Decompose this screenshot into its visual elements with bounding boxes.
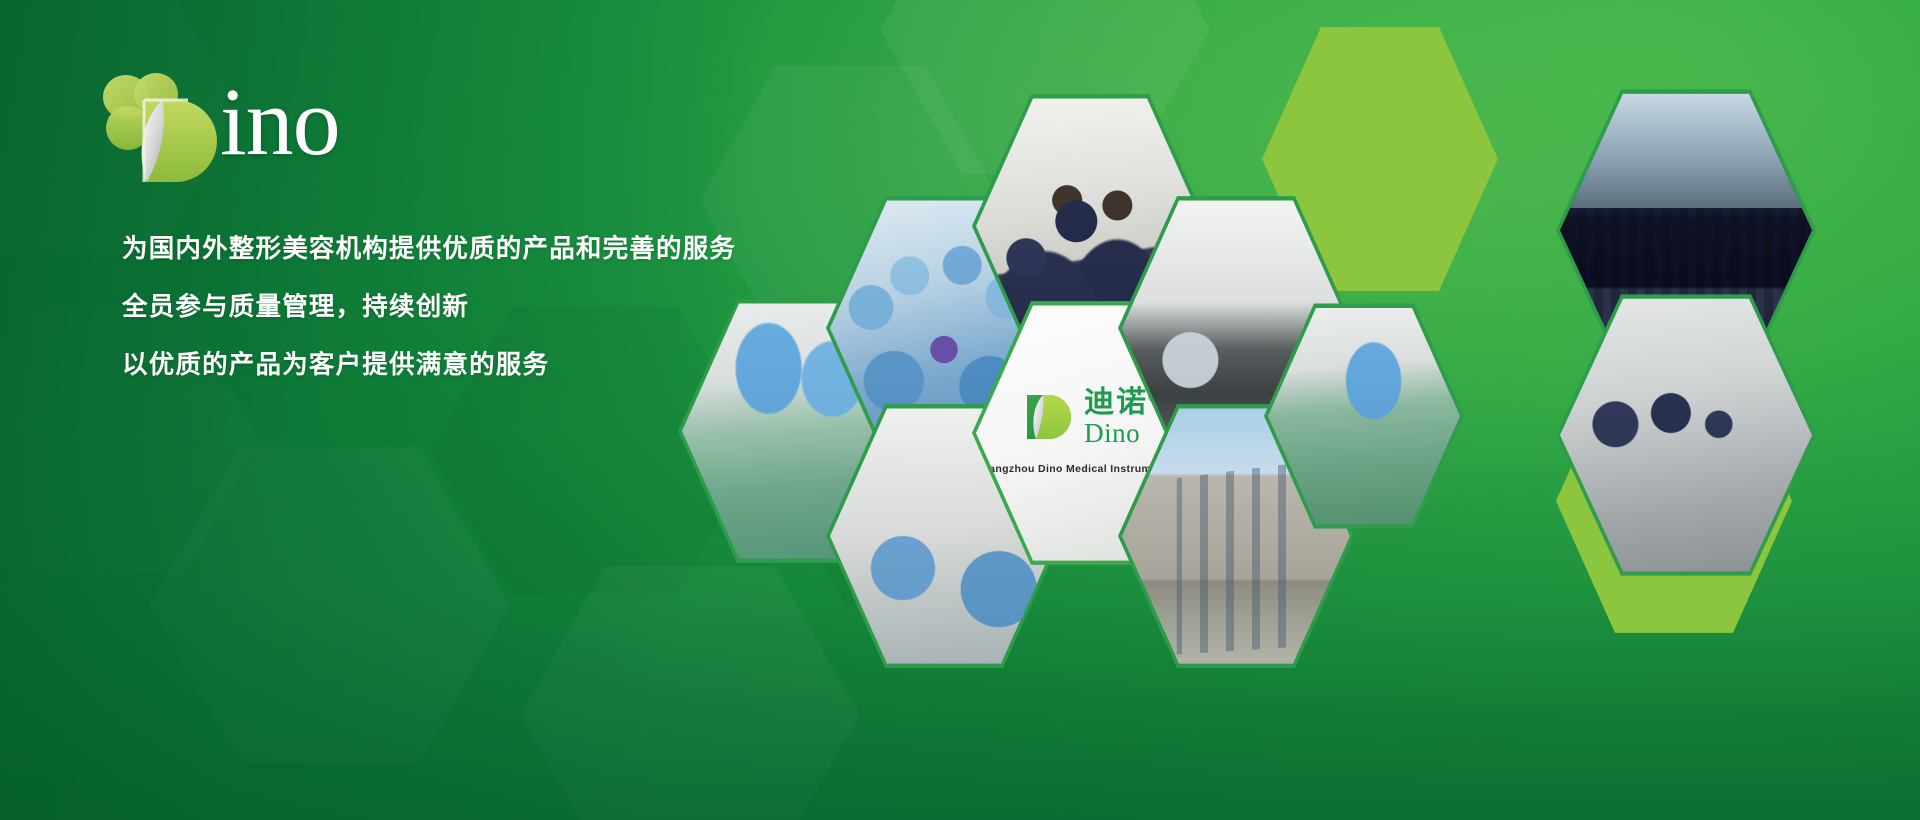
tagline-block: 为国内外整形美容机构提供优质的产品和完善的服务 全员参与质量管理，持续创新 以优… bbox=[92, 234, 852, 382]
banner-root: 迪诺® Dino Hangzhou Dino Medical Instrumen… bbox=[0, 0, 1920, 820]
center-logo-name-cn: 迪诺® bbox=[1084, 388, 1157, 418]
dino-wordmark: ino bbox=[220, 74, 340, 170]
tagline-line-1: 为国内外整形美容机构提供优质的产品和完善的服务 bbox=[122, 234, 852, 266]
tagline-line-2: 全员参与质量管理，持续创新 bbox=[122, 292, 852, 324]
brand-block: ino 为国内外整形美容机构提供优质的产品和完善的服务 全员参与质量管理，持续创… bbox=[92, 70, 852, 408]
dino-logo[interactable]: ino bbox=[92, 70, 852, 182]
tagline-line-3: 以优质的产品为客户提供满意的服务 bbox=[122, 350, 852, 382]
dino-d-leaf-mark-icon bbox=[1023, 391, 1075, 443]
center-logo-name-en: Dino bbox=[1084, 420, 1140, 447]
